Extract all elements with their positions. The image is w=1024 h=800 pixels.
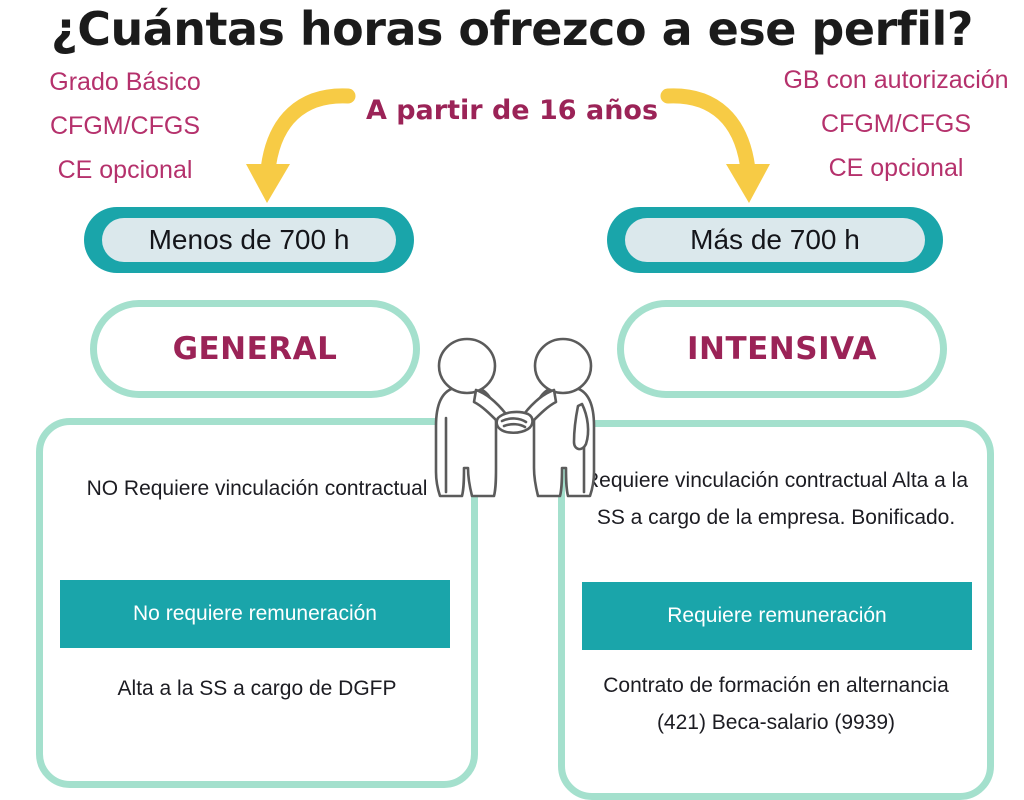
- detail-card-general: NO Requiere vinculación contractual No r…: [36, 418, 478, 788]
- requisite-right-line-3: CE opcional: [746, 146, 1024, 190]
- general-detail-top: NO Requiere vinculación contractual: [43, 470, 471, 507]
- hours-pill-more-than-700[interactable]: Más de 700 h: [607, 207, 943, 273]
- requisites-right: GB con autorización CFGM/CFGS CE opciona…: [746, 58, 1024, 190]
- intensiva-detail-top: Requiere vinculación contractual Alta a …: [565, 462, 987, 536]
- intensiva-remuneration-banner: Requiere remuneración: [582, 582, 972, 650]
- infographic-canvas: ¿Cuántas horas ofrezco a ese perfil? Gra…: [0, 0, 1024, 800]
- requisite-right-line-2: CFGM/CFGS: [746, 102, 1024, 146]
- hours-pill-right-label: Más de 700 h: [625, 218, 925, 262]
- general-detail-bottom: Alta a la SS a cargo de DGFP: [43, 670, 471, 707]
- general-remuneration-banner: No requiere remuneración: [60, 580, 450, 648]
- age-requirement-note: A partir de 16 años: [312, 95, 712, 126]
- hours-pill-less-than-700[interactable]: Menos de 700 h: [84, 207, 414, 273]
- requisite-left-line-2: CFGM/CFGS: [0, 104, 275, 148]
- modality-general[interactable]: GENERAL: [90, 300, 420, 398]
- requisites-left: Grado Básico CFGM/CFGS CE opcional: [0, 60, 275, 192]
- detail-card-intensiva: Requiere vinculación contractual Alta a …: [558, 420, 994, 800]
- handshake-figures-icon: [424, 322, 606, 512]
- requisite-left-line-1: Grado Básico: [0, 60, 275, 104]
- page-title: ¿Cuántas horas ofrezco a ese perfil?: [0, 2, 1024, 56]
- intensiva-detail-bottom: Contrato de formación en alternancia (42…: [565, 667, 987, 741]
- requisite-right-line-1: GB con autorización: [746, 58, 1024, 102]
- requisite-left-line-3: CE opcional: [0, 148, 275, 192]
- hours-pill-left-label: Menos de 700 h: [102, 218, 396, 262]
- modality-intensiva[interactable]: INTENSIVA: [617, 300, 947, 398]
